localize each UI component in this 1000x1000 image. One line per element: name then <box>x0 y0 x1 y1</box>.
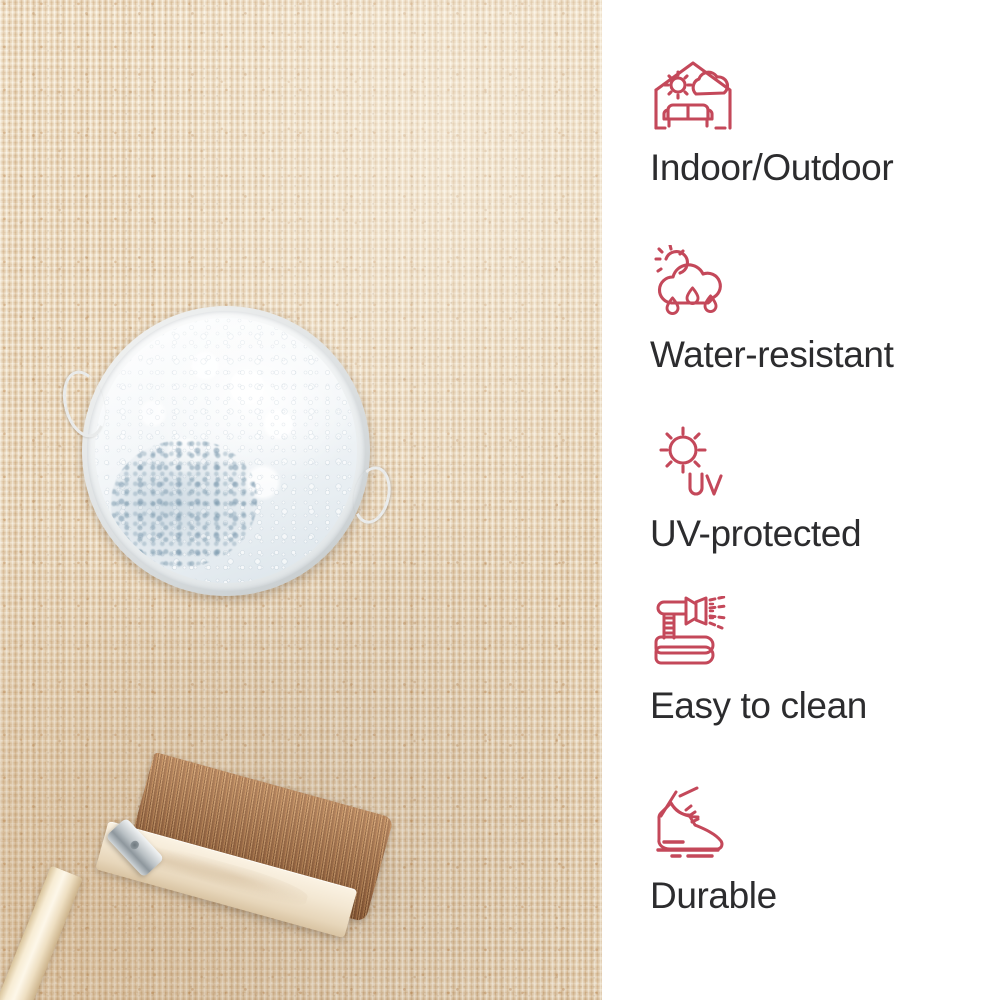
scrub-brush <box>88 742 388 952</box>
feature-label: UV-protected <box>650 514 990 553</box>
feature-item-water-resistant: Water-resistant <box>650 245 990 374</box>
feature-label: Durable <box>650 876 990 915</box>
hose-sprayer-icon <box>650 596 990 682</box>
feature-label: Indoor/Outdoor <box>650 148 990 187</box>
sneaker-step-icon <box>650 786 990 872</box>
feature-list-panel: Indoor/Outdoor Water-resistant <box>602 0 1000 1000</box>
feature-label: Easy to clean <box>650 686 990 725</box>
bucket-interior <box>95 318 357 583</box>
feature-label: Water-resistant <box>650 335 990 374</box>
product-feature-graphic: Indoor/Outdoor Water-resistant <box>0 0 1000 1000</box>
product-photo-panel <box>0 0 602 1000</box>
feature-item-easy-to-clean: Easy to clean <box>650 596 990 725</box>
feature-item-uv-protected: UV-protected <box>650 424 990 553</box>
feature-item-indoor-outdoor: Indoor/Outdoor <box>650 58 990 187</box>
feature-item-durable: Durable <box>650 786 990 915</box>
sun-cloud-rain-icon <box>650 245 990 331</box>
sun-uv-icon <box>650 424 990 510</box>
soapy-water-bucket <box>82 306 370 596</box>
house-sun-cloud-sofa-icon <box>650 58 990 144</box>
